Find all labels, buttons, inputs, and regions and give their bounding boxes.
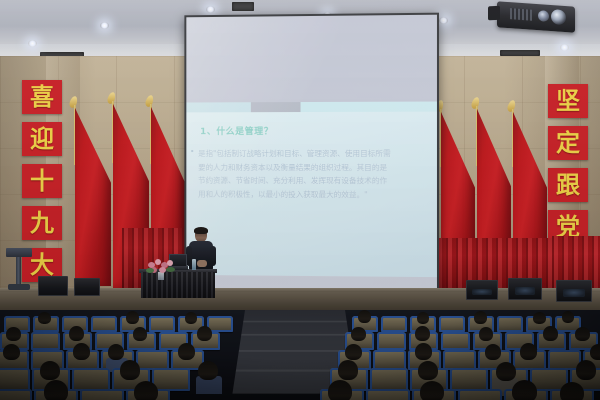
banner-placard: 迎 xyxy=(22,122,62,156)
audience-head xyxy=(338,360,358,380)
speaker-driver-icon xyxy=(515,287,535,295)
projector-secondary-lens-icon xyxy=(538,10,549,22)
audience-head xyxy=(133,327,147,341)
seat xyxy=(0,368,30,391)
audience-head xyxy=(198,361,218,380)
audience-head xyxy=(185,312,197,324)
audience-head xyxy=(345,344,362,360)
aisle-step xyxy=(239,350,352,352)
audience-head xyxy=(562,311,574,323)
banner-placard: 喜 xyxy=(22,80,62,114)
seat xyxy=(370,368,408,391)
audience-head xyxy=(533,312,546,324)
ceiling-spotlight xyxy=(100,22,109,29)
banner-placard: 十 xyxy=(22,164,62,198)
banner-character: 坚 xyxy=(556,89,580,113)
stage-speaker xyxy=(556,280,592,302)
slide-header-band xyxy=(186,102,437,113)
audience-head xyxy=(520,343,537,360)
seat xyxy=(497,316,523,332)
slide-body-text: 是指"包括制订战略计划和目标、管理资源、使用目标所需 要的人力和财务资本以及衡量… xyxy=(198,147,426,201)
audience-head xyxy=(415,343,432,360)
audience-head xyxy=(108,344,124,360)
audience-head xyxy=(543,326,558,341)
speaker-driver-icon xyxy=(563,289,585,297)
seat xyxy=(31,332,60,350)
water-bottle xyxy=(192,259,196,270)
seat xyxy=(377,332,406,350)
audience-head xyxy=(40,361,60,380)
stage-speaker xyxy=(38,276,68,296)
seat xyxy=(450,368,488,391)
audience-head xyxy=(496,362,516,381)
lectern-base xyxy=(8,284,30,290)
flower-petal xyxy=(159,267,166,273)
projection-screen: 1、什么是管理？ 是指"包括制订战略计划和目标、管理资源、使用目标所需 要的人力… xyxy=(184,13,439,298)
banner-placard: 坚 xyxy=(548,84,588,118)
banner-character: 定 xyxy=(556,131,580,155)
audience-head xyxy=(69,326,84,341)
audience-head xyxy=(38,312,51,324)
slide-body-line: 是指"包括制订战略计划和目标、管理资源、使用目标所需 xyxy=(198,147,426,161)
audience-head xyxy=(575,327,590,341)
lectern-top xyxy=(6,248,32,257)
audience-head xyxy=(351,327,366,341)
audience-head xyxy=(417,312,429,324)
slide-body-line: 用和人的积极性，以最小的投入获取最大的效益。" xyxy=(198,187,426,201)
audience-head xyxy=(3,344,20,360)
stage-speaker xyxy=(74,278,100,296)
seat xyxy=(366,389,410,400)
flower-leaf xyxy=(146,268,154,273)
audience-seating-area xyxy=(0,310,600,400)
projector-vent-icon xyxy=(510,8,532,21)
audience-head xyxy=(485,344,501,360)
banner-character: 跟 xyxy=(556,173,580,197)
aisle-step xyxy=(243,321,347,323)
slide-body-line: 要的人力和财务资本以及衡量结果的组织过程。其目的是 xyxy=(198,160,426,174)
presenter-hands xyxy=(197,260,207,267)
audience-head xyxy=(415,326,430,341)
audience-head xyxy=(120,360,140,380)
slide-bullet-marker xyxy=(191,150,193,152)
audience-head xyxy=(560,382,584,400)
air-vent xyxy=(232,2,254,11)
auditorium-photo: 喜 迎 十 九 大 坚 定 跟 党 走 xyxy=(0,0,600,400)
audience-head xyxy=(197,326,212,341)
seat xyxy=(381,316,407,332)
banner-character: 九 xyxy=(30,211,54,235)
audience-head xyxy=(178,343,195,360)
audience-head xyxy=(6,327,21,341)
seat xyxy=(0,389,32,400)
aisle-step xyxy=(241,334,349,336)
seat xyxy=(373,350,406,370)
audience-head xyxy=(73,343,90,360)
audience-head xyxy=(358,310,371,323)
audience-head xyxy=(328,380,352,400)
audience-head xyxy=(479,327,493,341)
ceiling-spotlight xyxy=(28,40,37,47)
seat xyxy=(80,389,124,400)
ceiling-spotlight xyxy=(560,44,569,51)
presenter-hair xyxy=(194,227,208,234)
audience-head xyxy=(418,361,438,380)
audience-head xyxy=(474,311,487,324)
stage-speaker xyxy=(508,278,542,300)
seat xyxy=(458,389,502,400)
audience-head xyxy=(420,381,444,400)
slide-body-line: 节约资源、节省时间、充分利用、发挥现有设备技术的作 xyxy=(198,174,426,188)
flower-petal xyxy=(167,260,173,266)
presenter-arm-right xyxy=(210,246,216,266)
seat xyxy=(72,368,110,391)
seat xyxy=(91,316,117,332)
banner-character: 大 xyxy=(30,253,54,277)
screen-surface: 1、什么是管理？ 是指"包括制订战略计划和目标、管理资源、使用目标所需 要的人力… xyxy=(186,15,437,296)
seat xyxy=(136,350,169,370)
audience-head xyxy=(576,360,596,380)
seat xyxy=(439,316,465,332)
banner-character: 十 xyxy=(30,169,54,193)
banner-placard: 定 xyxy=(548,126,588,160)
seat xyxy=(441,332,470,350)
ceiling-spotlight xyxy=(206,6,215,13)
flower-arrangement xyxy=(146,258,176,276)
audience-head xyxy=(590,344,600,360)
lectern-stem xyxy=(16,257,21,285)
slide-heading: 1、什么是管理？ xyxy=(200,124,273,137)
speaker-driver-icon xyxy=(472,289,491,296)
audience-head xyxy=(126,311,139,324)
banner-placard: 九 xyxy=(22,206,62,240)
audience-head xyxy=(134,381,158,400)
banner-character: 迎 xyxy=(30,127,54,151)
ceiling-spotlight xyxy=(439,17,448,24)
audience-head xyxy=(44,380,68,400)
lectern xyxy=(6,248,32,294)
banner-placard: 跟 xyxy=(548,168,588,202)
seat xyxy=(152,368,190,391)
seat xyxy=(443,350,476,370)
seat xyxy=(149,316,175,332)
banner-character: 喜 xyxy=(30,85,54,109)
flower-leaf xyxy=(166,267,175,272)
audience-head xyxy=(512,380,537,400)
presentation-slide: 1、什么是管理？ 是指"包括制订战略计划和目标、管理资源、使用目标所需 要的人力… xyxy=(186,102,437,278)
stage-speaker xyxy=(466,280,498,300)
projector-lens-icon xyxy=(551,9,566,25)
ceiling-projector xyxy=(497,1,575,32)
